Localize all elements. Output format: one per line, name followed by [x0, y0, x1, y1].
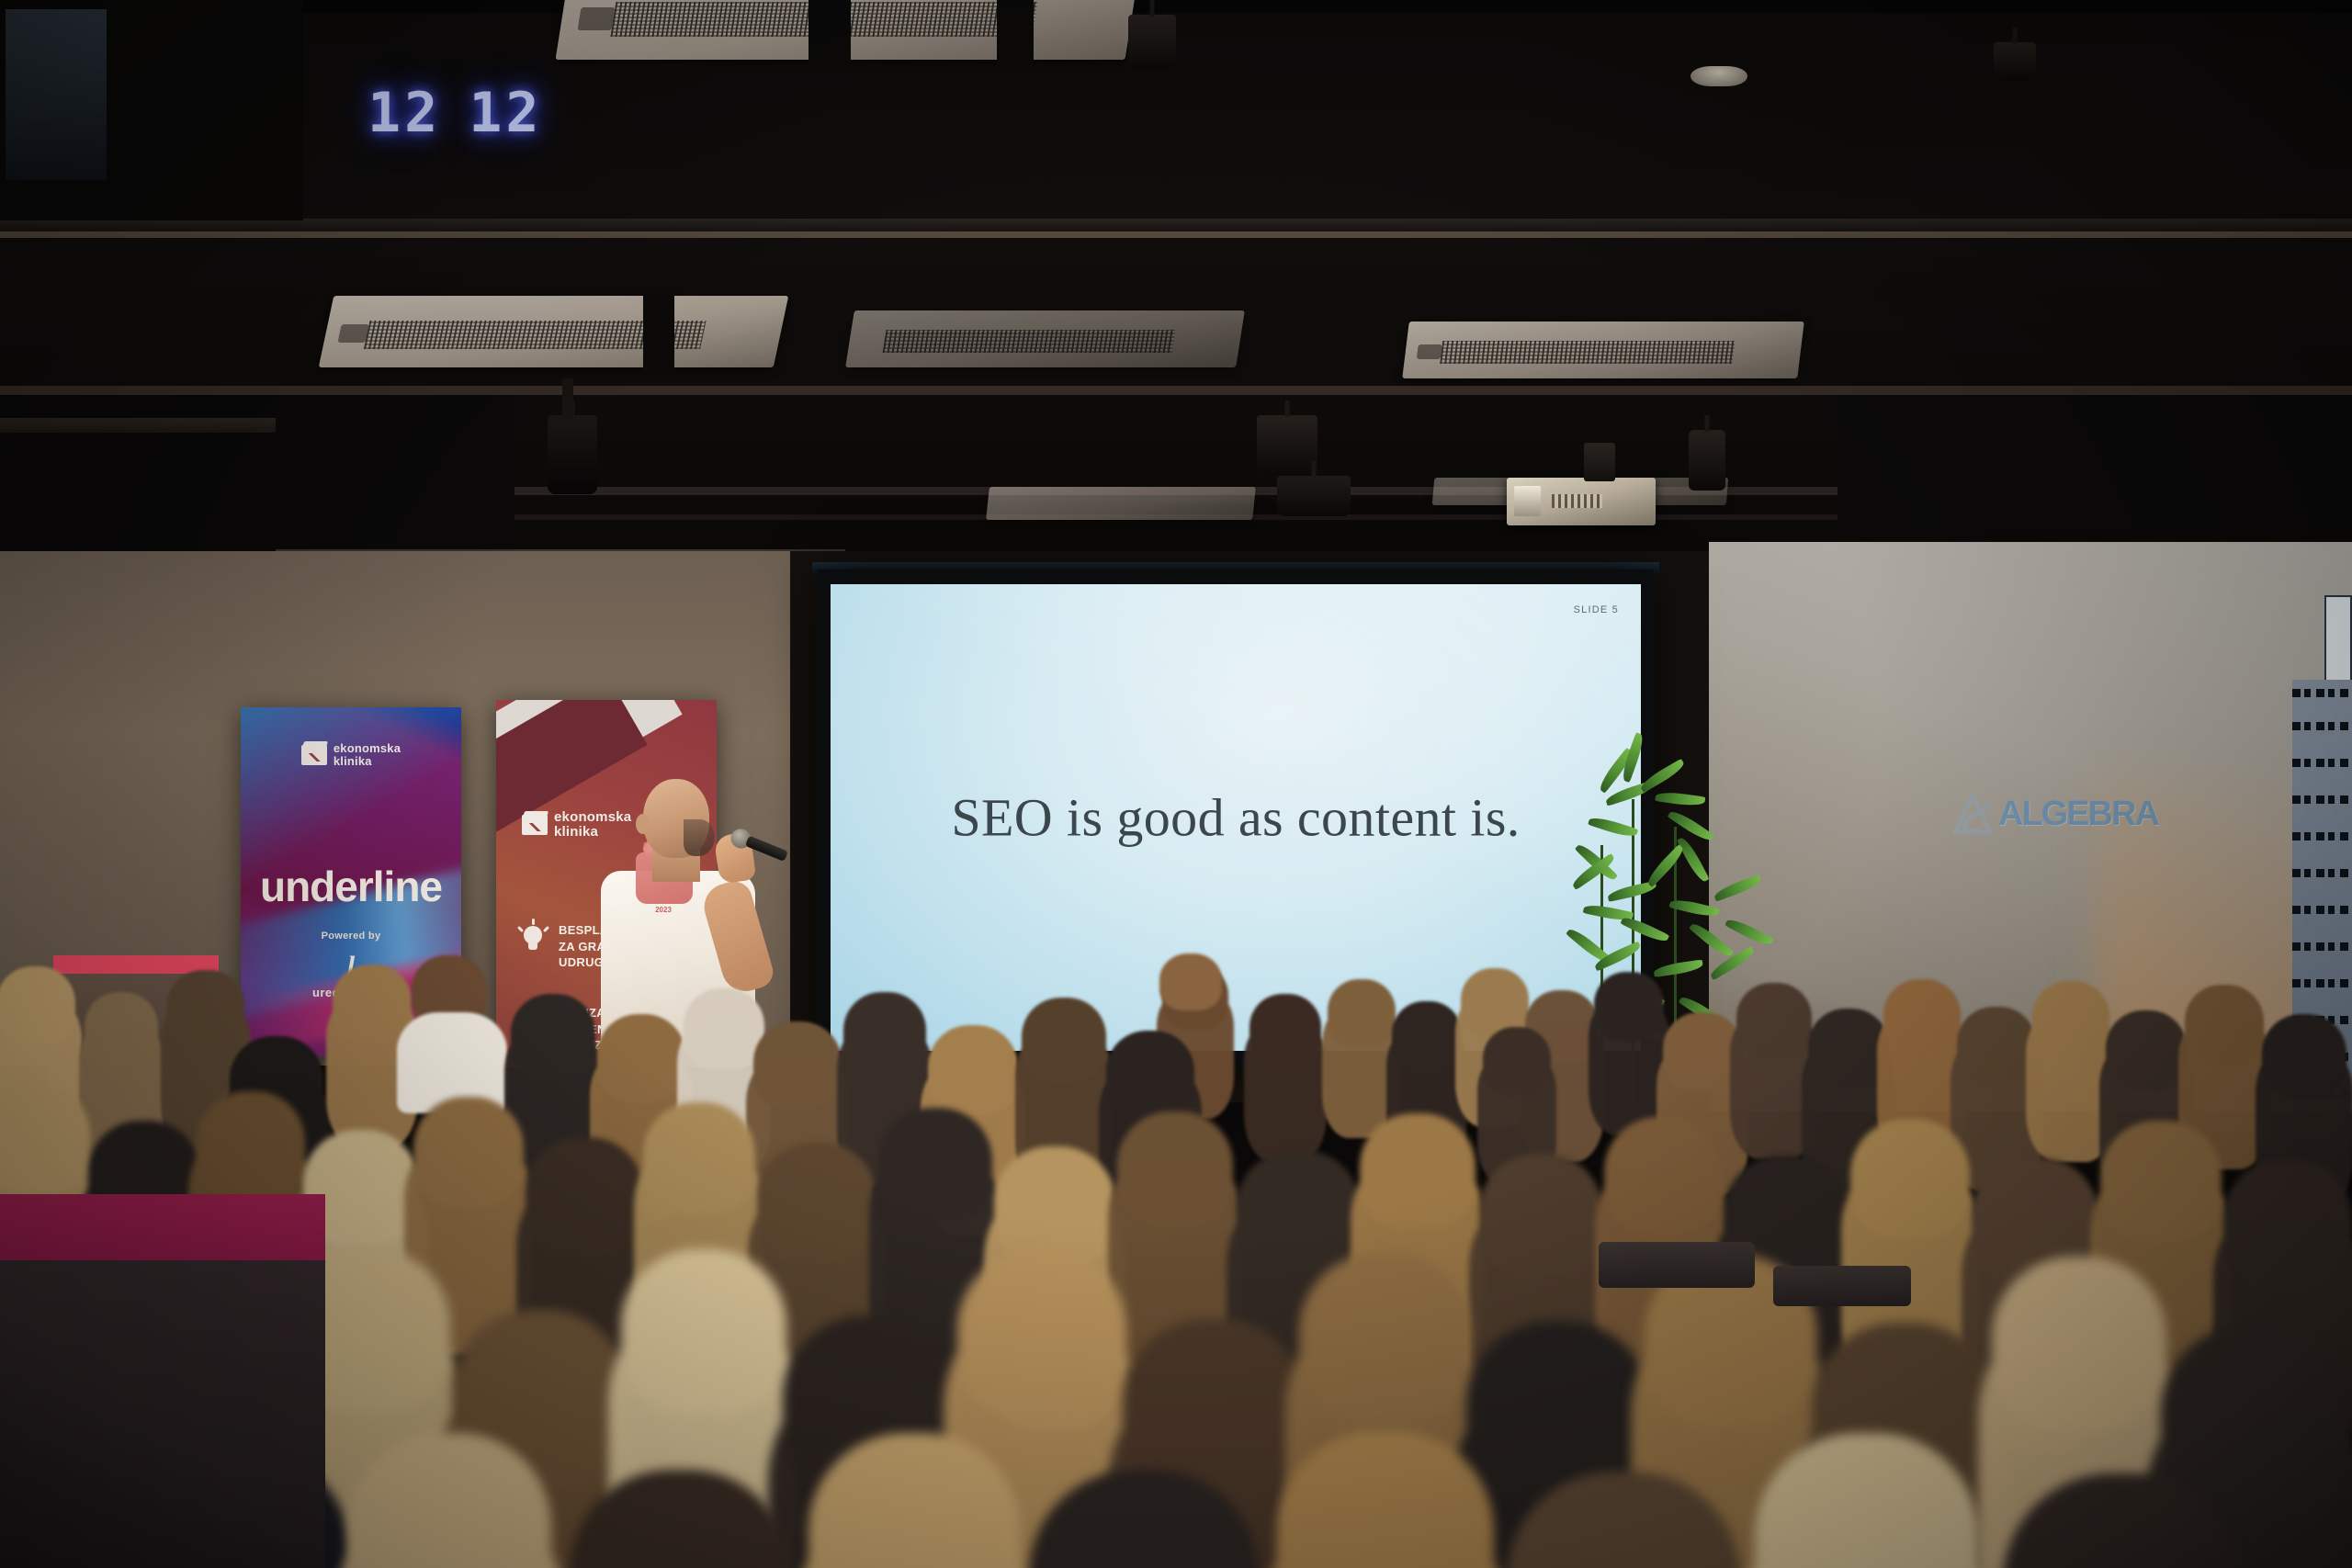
hvac-vent-center: [845, 310, 1245, 367]
camera-rig-pole: [562, 378, 573, 419]
smoke-detector-icon: [1690, 66, 1747, 86]
spotlight-2: [1994, 42, 2036, 81]
wave-row: [2292, 759, 2352, 767]
audience-head: [526, 1137, 643, 1255]
audience-head: [333, 964, 412, 1043]
hvac-vent-low: [986, 487, 1256, 520]
plant-leaf: [1655, 790, 1705, 807]
audience-head: [197, 1091, 305, 1200]
lightbulb-icon: [518, 922, 549, 953]
wave-row: [2292, 869, 2352, 877]
ceiling-projector: [1507, 478, 1656, 525]
tshirt-tiny-text: 2023: [643, 906, 684, 914]
logo-line-1: ekonomska: [334, 741, 401, 755]
audience-head: [2100, 1121, 2222, 1242]
audience-head: [1360, 1113, 1476, 1229]
audience-head: [957, 1251, 1126, 1420]
audience-head: [1237, 1150, 1360, 1273]
ceiling-beam-top: [0, 0, 2352, 13]
desk-front-dark-panel: [0, 1260, 325, 1568]
spotlight-4: [1689, 430, 1725, 491]
audience-head: [2032, 981, 2109, 1058]
audience-head: [928, 1025, 1018, 1115]
audience-head: [2185, 985, 2264, 1064]
presenter-ear: [636, 814, 650, 834]
bulb-ray: [517, 926, 524, 932]
audience-head: [167, 970, 244, 1047]
vent-divider-1: [808, 0, 851, 64]
audience-head: [753, 1021, 842, 1110]
wave-row: [2292, 942, 2352, 951]
audience-head: [1249, 994, 1321, 1066]
plant-leaf: [1713, 874, 1763, 902]
audience-head: [1022, 998, 1106, 1082]
audience: [0, 974, 2352, 1568]
audience-head: [878, 1108, 992, 1222]
audience-head: [85, 992, 158, 1066]
chair-back: [1773, 1266, 1911, 1306]
conference-hall-photo: 12 12: [0, 0, 2352, 1568]
wave-row: [2292, 689, 2352, 697]
audience-head: [1883, 979, 1961, 1056]
audience-head: [643, 1102, 755, 1214]
powered-by-label: Powered by: [241, 931, 461, 942]
audience-head: [757, 1143, 876, 1262]
audience-head: [621, 1249, 786, 1415]
ekonomska-klinika-mark-icon: [301, 745, 327, 765]
audience-head: [994, 1146, 1115, 1268]
audience-head: [1328, 979, 1396, 1047]
vent-slot: [337, 324, 368, 343]
ceiling-rail-2: [0, 386, 2352, 395]
vent-grille: [883, 330, 1175, 353]
vent-slot: [1417, 344, 1442, 359]
audience-head: [1604, 1117, 1722, 1235]
projector-mount: [1584, 443, 1615, 481]
wave-row: [2292, 832, 2352, 840]
wave-row: [2292, 795, 2352, 804]
digital-wall-clock: 12 12: [367, 81, 543, 145]
spotlight-3: [1257, 415, 1317, 476]
ceiling-mass-right: [1837, 395, 2352, 533]
plant-leaf: [1645, 844, 1687, 887]
projector-lens: [1514, 486, 1541, 515]
desk-front-magenta-band: [0, 1194, 325, 1266]
ceiling-light-strip-left: [6, 9, 107, 180]
audience-head: [1299, 1253, 1470, 1424]
audience-head: [0, 1084, 90, 1192]
audience-head: [1461, 968, 1529, 1036]
ceiling-rail-1-highlight: [0, 231, 2352, 238]
ekonomska-klinika-label: ekonomska klinika: [334, 742, 401, 768]
audience-head: [2161, 1325, 2352, 1516]
audience-head: [1479, 1154, 1602, 1277]
algebra-triangle-icon: [1952, 792, 1993, 836]
underline-wordmark: underline: [241, 862, 461, 911]
audience-head: [1483, 1027, 1551, 1095]
hvac-vent-right: [1402, 321, 1804, 378]
audience-head: [843, 992, 926, 1075]
spotlight-5: [1277, 476, 1351, 516]
slide-number-label: SLIDE 5: [1574, 604, 1619, 615]
hvac-vent-left: [319, 296, 789, 367]
plant-leaf: [1638, 759, 1687, 793]
chair-back: [1599, 1242, 1755, 1288]
audience-head: [1850, 1119, 1970, 1238]
bulb-ray: [532, 919, 535, 925]
wave-row: [2292, 906, 2352, 914]
clock-hours: 12: [367, 81, 441, 145]
audience-head: [1594, 972, 1664, 1042]
logo-line-2: klinika: [554, 824, 598, 840]
camera-rig: [548, 415, 597, 494]
audience-head: [413, 1097, 524, 1207]
audience-head: [511, 994, 595, 1078]
vent-divider-2: [997, 0, 1034, 64]
audience-head: [1392, 1001, 1462, 1071]
audience-head: [1957, 1007, 2036, 1086]
audience-head: [2106, 1010, 2187, 1091]
ekonomska-klinika-mark-icon: [522, 815, 548, 835]
plant-leaf: [1724, 916, 1773, 949]
algebra-wordmark: ALGEBRA: [1998, 795, 2158, 834]
projector-vents: [1552, 494, 1602, 509]
wave-row: [2292, 722, 2352, 730]
vent-slot: [577, 7, 615, 30]
audience-head: [2223, 1159, 2352, 1288]
ekonomska-klinika-logo: ekonomska klinika: [301, 742, 401, 768]
audience-head: [0, 966, 75, 1045]
bulb-ray: [543, 926, 549, 932]
logo-line-2: klinika: [334, 754, 372, 768]
ceiling-trim-left: [0, 418, 276, 433]
audience-head: [597, 1014, 685, 1102]
plant-leaf: [1588, 814, 1638, 840]
ceiling: 12 12: [0, 0, 2352, 588]
audience-head: [684, 988, 764, 1069]
algebra-wall-logo: ALGEBRA: [1952, 792, 2158, 836]
audience-head: [2262, 1014, 2346, 1099]
vent-grille: [1440, 341, 1735, 364]
audience-head: [1106, 1031, 1194, 1119]
plant-leaf: [1620, 914, 1669, 945]
audience-head: [1992, 1257, 2166, 1431]
plant-leaf: [1677, 835, 1710, 884]
audience-head: [1736, 983, 1812, 1058]
bulb-shape: [524, 926, 542, 944]
audience-head: [1159, 953, 1222, 1010]
presenter-beard: [684, 819, 715, 856]
slide-headline: SEO is good as content is.: [831, 787, 1641, 849]
vent-divider-3: [643, 292, 674, 371]
clock-minutes: 12: [469, 81, 542, 145]
spotlight-1: [1128, 15, 1176, 70]
audience-head: [1117, 1111, 1233, 1227]
